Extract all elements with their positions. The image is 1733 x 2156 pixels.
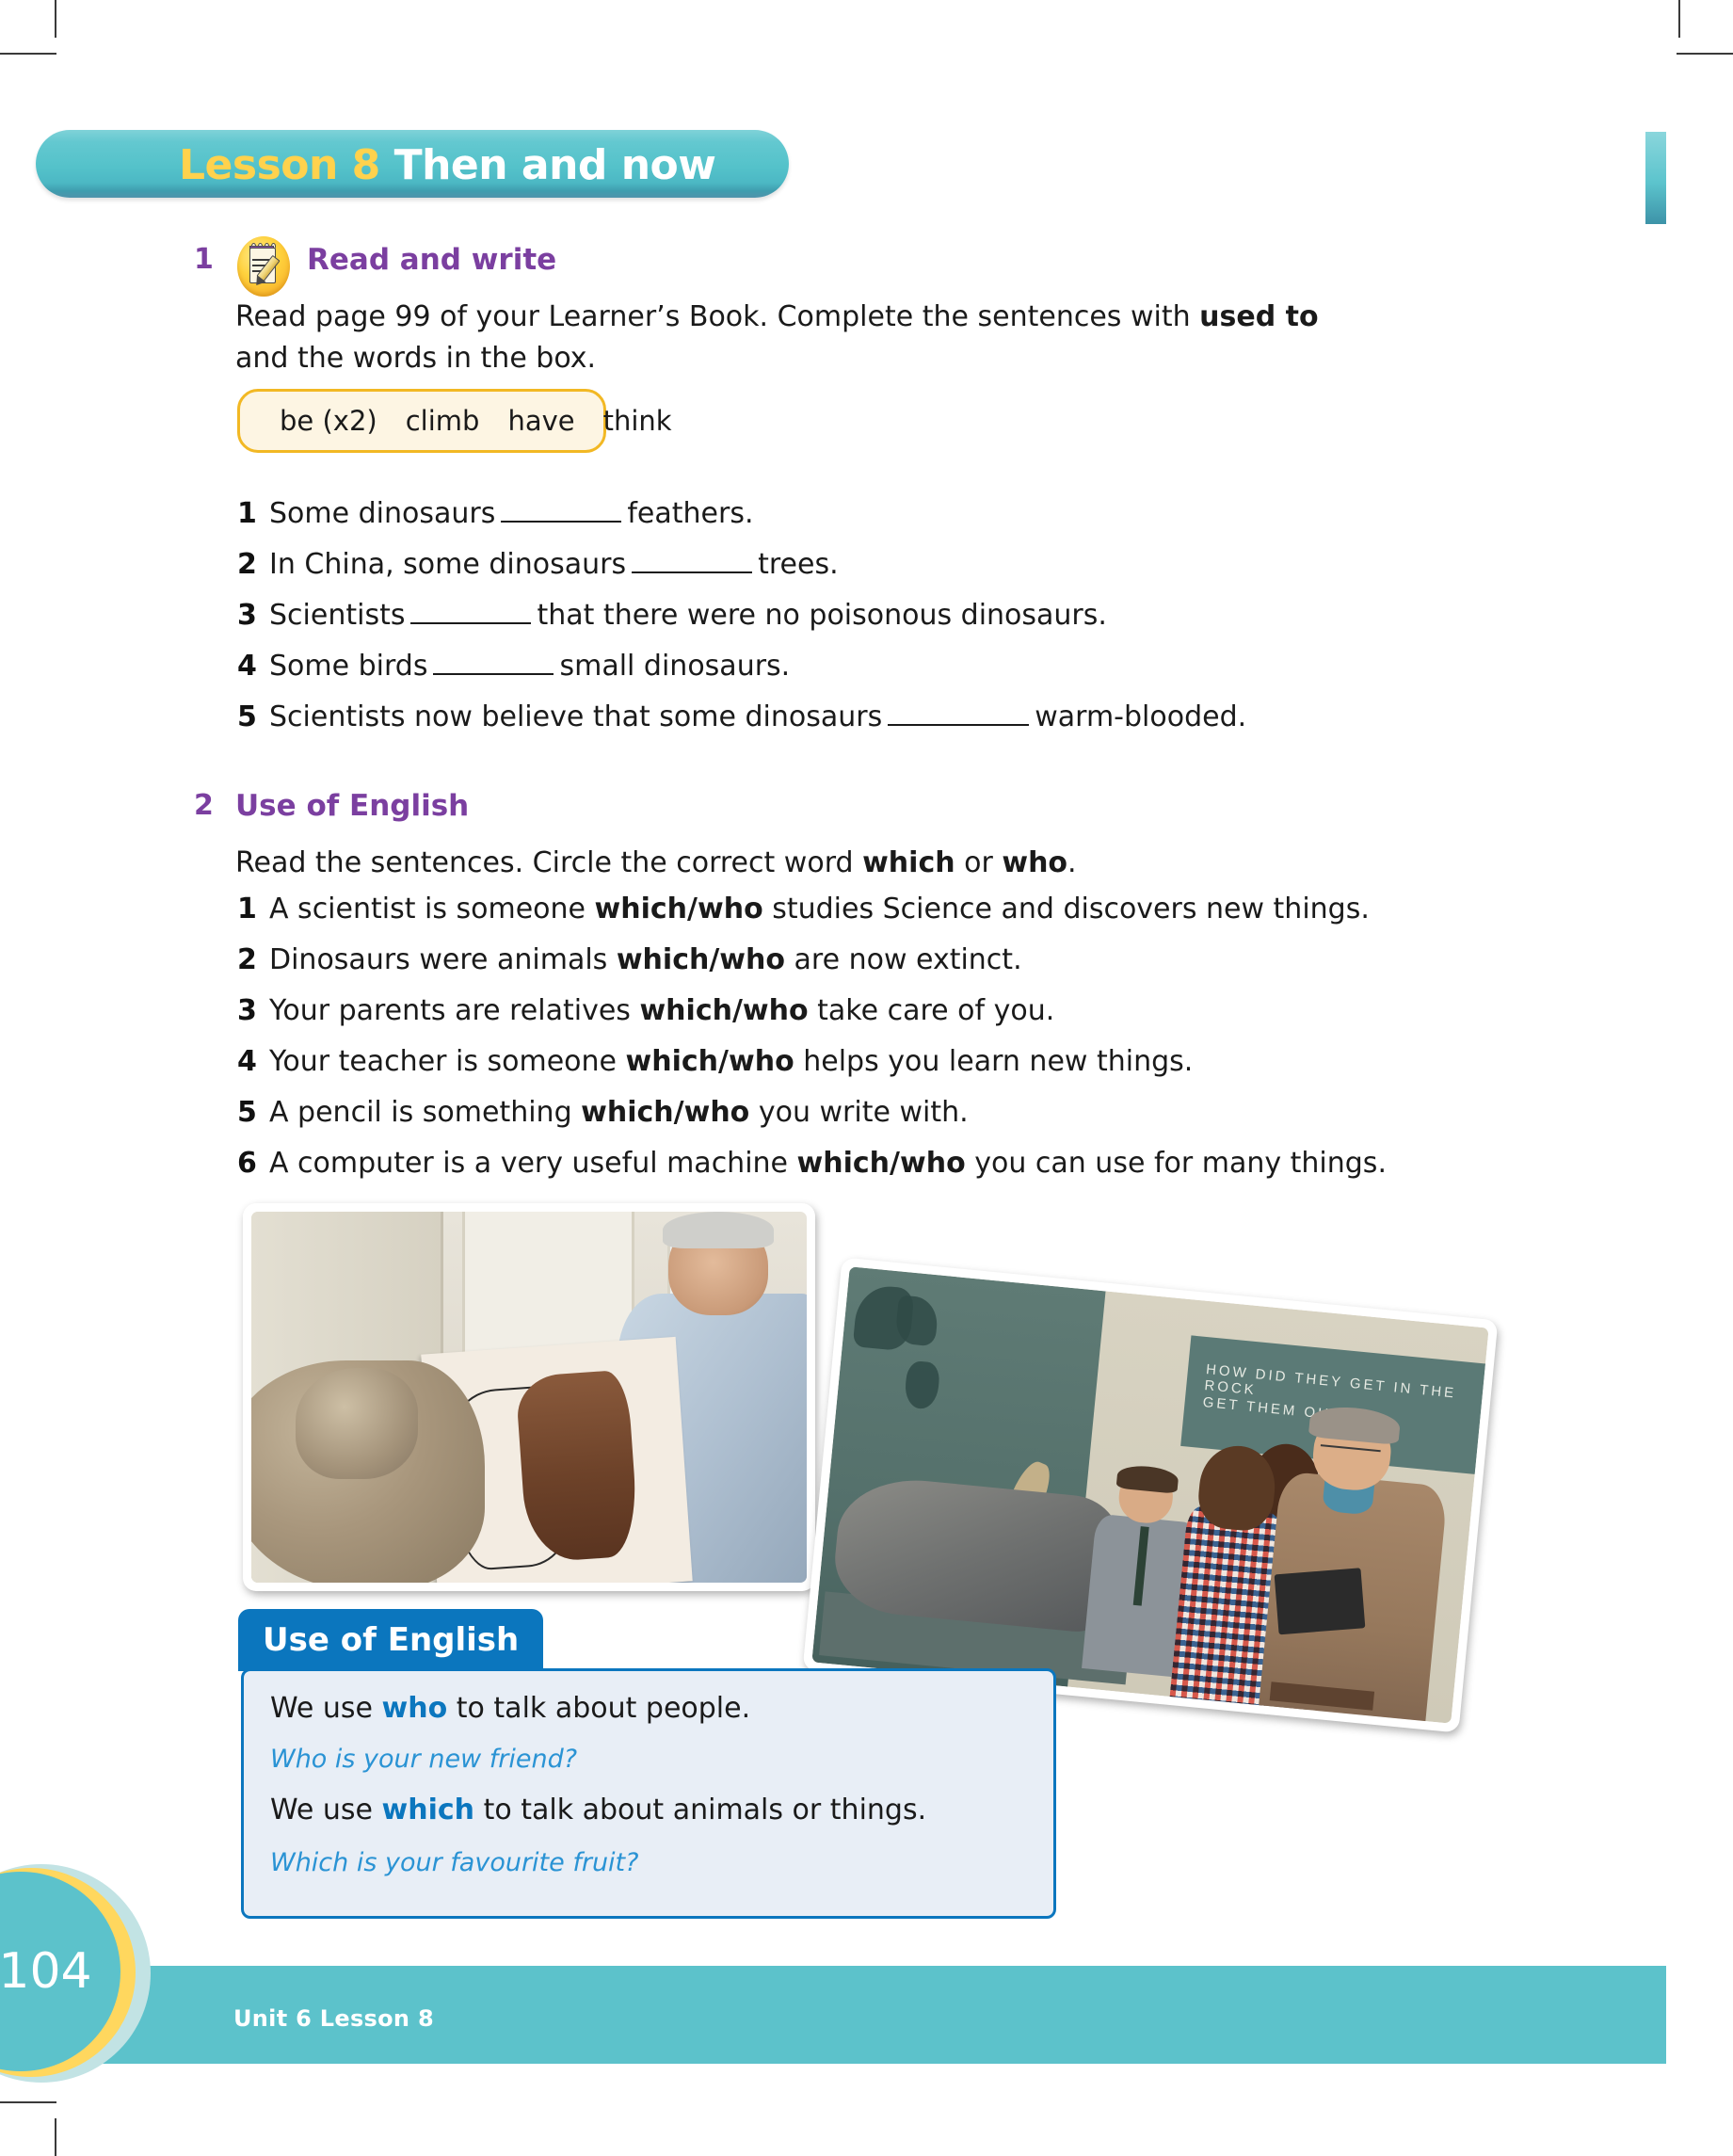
footer-unit-lesson-label: Unit 6 Lesson 8 [233, 2005, 434, 2032]
item-text-after: feathers. [627, 497, 753, 530]
item-number: 2 [237, 943, 269, 976]
exercise-1-item-4: 4Some birdssmall dinosaurs. [237, 650, 1489, 700]
answer-blank[interactable] [410, 602, 531, 624]
exercise-1-heading: Read and write [307, 243, 556, 277]
choice-which-who[interactable]: which/who [639, 994, 808, 1027]
photo-2-inner: HOW DID THEY GET IN THE ROCK GET THEM OU… [811, 1266, 1488, 1723]
exercise-2-question-list: 1A scientist is someone which/who studie… [237, 893, 1555, 1198]
item-number: 4 [237, 1045, 269, 1078]
item-text-before: Some birds [269, 650, 427, 683]
item-text-before: A pencil is something [269, 1096, 581, 1129]
vintage-museum-visitors-photo: HOW DID THEY GET IN THE ROCK GET THEM OU… [803, 1257, 1499, 1732]
rule-1-keyword-who: who [382, 1692, 448, 1725]
item-text-before: Scientists now believe that some dinosau… [269, 700, 882, 733]
use-of-english-info-box: We use who to talk about people. Who is … [241, 1668, 1056, 1919]
exercise-1-instruction-bold: used to [1199, 300, 1318, 333]
exercise-1-question-list: 1Some dinosaursfeathers. 2In China, some… [237, 497, 1489, 751]
textbook-page: Lesson 8 Then and now 1 Read and write R… [0, 0, 1733, 2156]
rule-1-part-2: to talk about people. [447, 1692, 750, 1725]
item-number: 5 [237, 1096, 269, 1129]
lesson-banner-text: Lesson 8 Then and now [179, 139, 838, 192]
exercise-1-instruction-part-2: and the words in the box. [235, 342, 596, 375]
rule-2-part-2: to talk about animals or things. [474, 1794, 926, 1826]
photo-2-man-with-clipboard [1260, 1405, 1454, 1721]
exercise-1-instruction: Read page 99 of your Learner’s Book. Com… [235, 297, 1478, 379]
photo-2-clipboard [1274, 1569, 1365, 1635]
item-text-before: A scientist is someone [269, 893, 595, 925]
exercise-2-item-5: 5A pencil is something which/who you wri… [237, 1096, 1555, 1147]
lesson-number-label: Lesson 8 [179, 141, 380, 189]
rule-2-keyword-which: which [382, 1794, 475, 1826]
item-text-before: Some dinosaurs [269, 497, 495, 530]
photo-1-scene [251, 1212, 807, 1583]
item-number: 4 [237, 650, 269, 683]
photo-1-fossil-specimen-secondary [296, 1368, 418, 1479]
photo-2-scene: HOW DID THEY GET IN THE ROCK GET THEM OU… [811, 1266, 1488, 1723]
use-of-english-rule-2: We use which to talk about animals or th… [270, 1794, 926, 1826]
notepad-pencil-icon [237, 236, 290, 297]
exercise-2-instruction: Read the sentences. Circle the correct w… [235, 843, 1487, 884]
item-text-before: Your teacher is someone [269, 1045, 626, 1078]
item-number: 2 [237, 548, 269, 581]
exercise-1-number: 1 [194, 243, 214, 276]
rule-2-part-1: We use [270, 1794, 382, 1826]
item-text-before: Dinosaurs were animals [269, 943, 617, 976]
item-text-before: A computer is a very useful machine [269, 1147, 797, 1180]
item-text-after: helps you learn new things. [794, 1045, 1194, 1078]
item-text-before: Scientists [269, 599, 405, 632]
word-box-item-0: be (x2) [280, 405, 377, 437]
item-number: 1 [237, 497, 269, 530]
item-text-after: are now extinct. [785, 943, 1022, 976]
answer-blank[interactable] [433, 652, 554, 675]
scientist-holding-fossil-drawing-photo [243, 1203, 815, 1591]
item-text-after: trees. [758, 548, 839, 581]
exercise-1-item-5: 5Scientists now believe that some dinosa… [237, 700, 1489, 751]
choice-which-who[interactable]: which/who [617, 943, 785, 976]
use-of-english-box-title-tab: Use of English [238, 1609, 543, 1671]
answer-blank[interactable] [501, 500, 621, 523]
exercise-2-instruction-period: . [1067, 846, 1077, 879]
exercise-2-instruction-part-1: Read the sentences. Circle the correct w… [235, 846, 862, 879]
choice-which-who[interactable]: which/who [797, 1147, 966, 1180]
crop-mark-top-right-horizontal [1677, 53, 1733, 55]
item-text-after: that there were no poisonous dinosaurs. [537, 599, 1106, 632]
exercise-2-item-3: 3Your parents are relatives which/who ta… [237, 994, 1555, 1045]
item-number: 6 [237, 1147, 269, 1180]
photo-2-dinosaur-silhouette-3 [904, 1360, 941, 1410]
exercise-1-item-1: 1Some dinosaursfeathers. [237, 497, 1489, 548]
rule-1-part-1: We use [270, 1692, 382, 1725]
answer-blank[interactable] [632, 551, 752, 573]
word-box: be (x2) climb have think [237, 389, 606, 453]
page-number: 104 [0, 1943, 92, 2000]
exercise-2-heading: Use of English [235, 789, 469, 823]
crop-mark-top-right-vertical [1678, 0, 1680, 38]
crop-mark-top-left-vertical [55, 0, 56, 38]
answer-blank[interactable] [888, 703, 1029, 726]
exercise-1-item-3: 3Scientiststhat there were no poisonous … [237, 599, 1489, 650]
exercise-2-item-4: 4Your teacher is someone which/who helps… [237, 1045, 1555, 1096]
item-number: 1 [237, 893, 269, 925]
crop-mark-bottom-left-horizontal [0, 2101, 56, 2103]
choice-which-who[interactable]: which/who [595, 893, 763, 925]
exercise-1-instruction-part-1: Read page 99 of your Learner’s Book. Com… [235, 300, 1199, 333]
exercise-2-item-1: 1A scientist is someone which/who studie… [237, 893, 1555, 943]
crop-mark-top-left-horizontal [0, 53, 56, 55]
item-text-after: you write with. [749, 1096, 968, 1129]
exercise-2-instruction-bold-who: who [1002, 846, 1067, 879]
exercise-2-item-2: 2Dinosaurs were animals which/who are no… [237, 943, 1555, 994]
item-text-after: warm-blooded. [1035, 700, 1246, 733]
photo-1-inner [251, 1212, 807, 1583]
choice-which-who[interactable]: which/who [581, 1096, 749, 1129]
use-of-english-box-title: Use of English [263, 1621, 519, 1659]
crop-mark-bottom-left-vertical [55, 2118, 56, 2156]
exercise-2-item-6: 6A computer is a very useful machine whi… [237, 1147, 1555, 1198]
use-of-english-example-1: Who is your new friend? [270, 1745, 577, 1774]
item-number: 3 [237, 994, 269, 1027]
item-number: 3 [237, 599, 269, 632]
choice-which-who[interactable]: which/who [626, 1045, 794, 1078]
use-of-english-rule-1: We use who to talk about people. [270, 1692, 750, 1725]
item-text-before: Your parents are relatives [269, 994, 639, 1027]
exercise-2-instruction-bold-which: which [862, 846, 955, 879]
word-box-item-2: have [507, 405, 574, 437]
word-box-item-3: think [603, 405, 672, 437]
item-text-after: take care of you. [809, 994, 1055, 1027]
exercise-2-number: 2 [194, 789, 214, 822]
lesson-title-label: Then and now [380, 141, 716, 189]
item-text-before: In China, some dinosaurs [269, 548, 626, 581]
item-text-after: you can use for many things. [966, 1147, 1387, 1180]
item-number: 5 [237, 700, 269, 733]
notepad-line-1 [252, 259, 269, 261]
word-box-item-1: climb [406, 405, 480, 437]
photo-1-scientist-hair [663, 1212, 774, 1248]
page-edge-tab [1645, 132, 1666, 224]
word-box-words: be (x2) climb have think [240, 392, 603, 450]
use-of-english-example-2: Which is your favourite fruit? [270, 1848, 638, 1877]
item-text-after: small dinosaurs. [559, 650, 790, 683]
item-text-after: studies Science and discovers new things… [763, 893, 1370, 925]
exercise-1-item-2: 2In China, some dinosaurstrees. [237, 548, 1489, 599]
exercise-2-instruction-or: or [955, 846, 1003, 879]
